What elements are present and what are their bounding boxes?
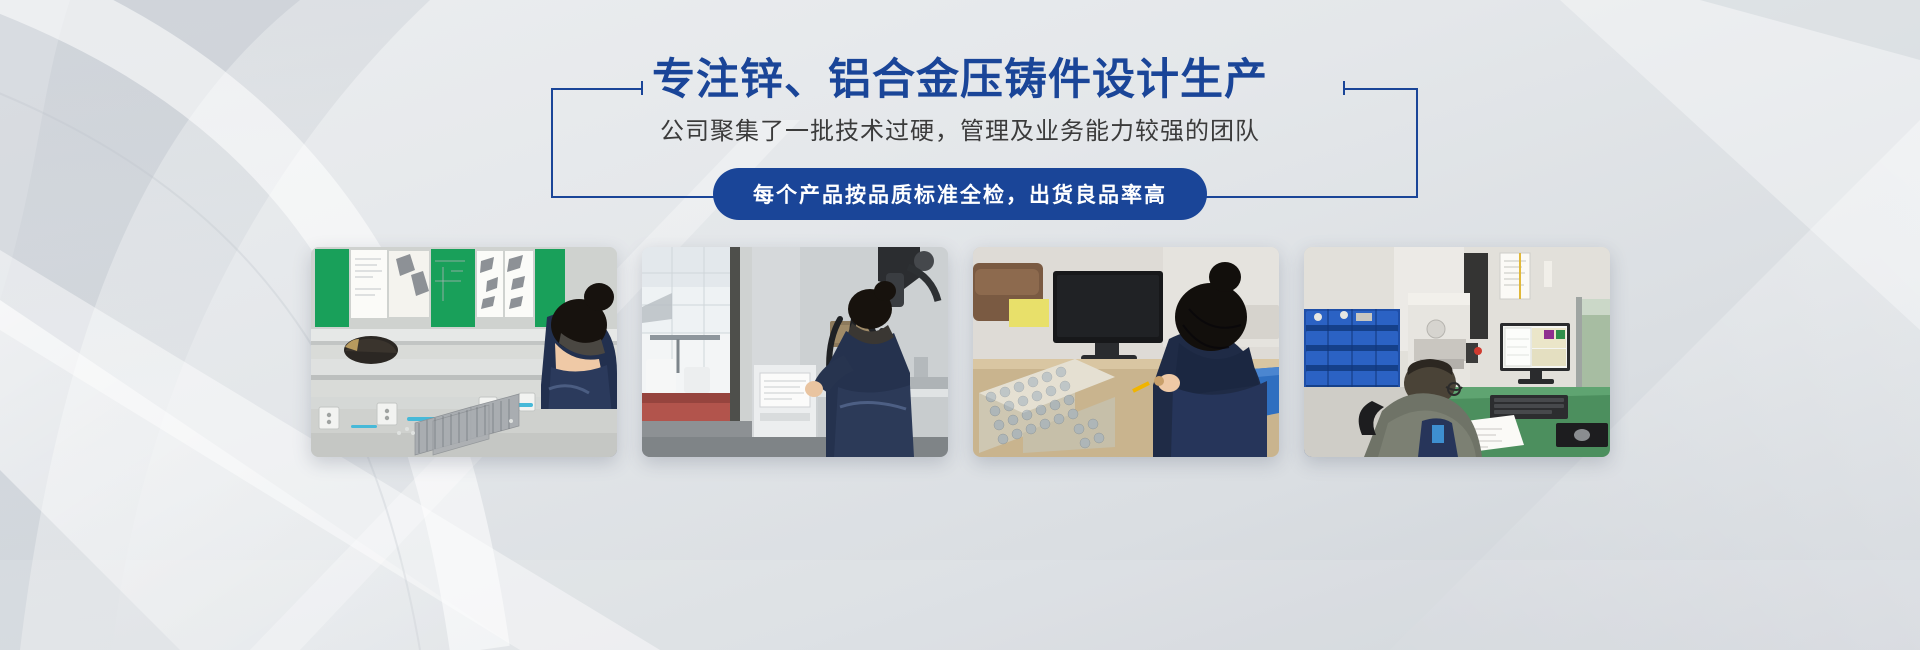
banner-header: 专注锌、铝合金压铸件设计生产 公司聚集了一批技术过硬，管理及业务能力较强的团队 … <box>0 0 1920 230</box>
page-title: 专注锌、铝合金压铸件设计生产 <box>0 56 1920 105</box>
photo-assembly-line[interactable] <box>311 247 617 457</box>
photo-inspection-packing[interactable] <box>973 247 1279 457</box>
photo-strip <box>0 247 1920 457</box>
quality-badge: 每个产品按品质标准全检，出货良品率高 <box>713 168 1207 220</box>
photo-die-casting-machine[interactable] <box>642 247 948 457</box>
page-subtitle: 公司聚集了一批技术过硬，管理及业务能力较强的团队 <box>0 114 1920 150</box>
photo-quality-office[interactable] <box>1304 247 1610 457</box>
